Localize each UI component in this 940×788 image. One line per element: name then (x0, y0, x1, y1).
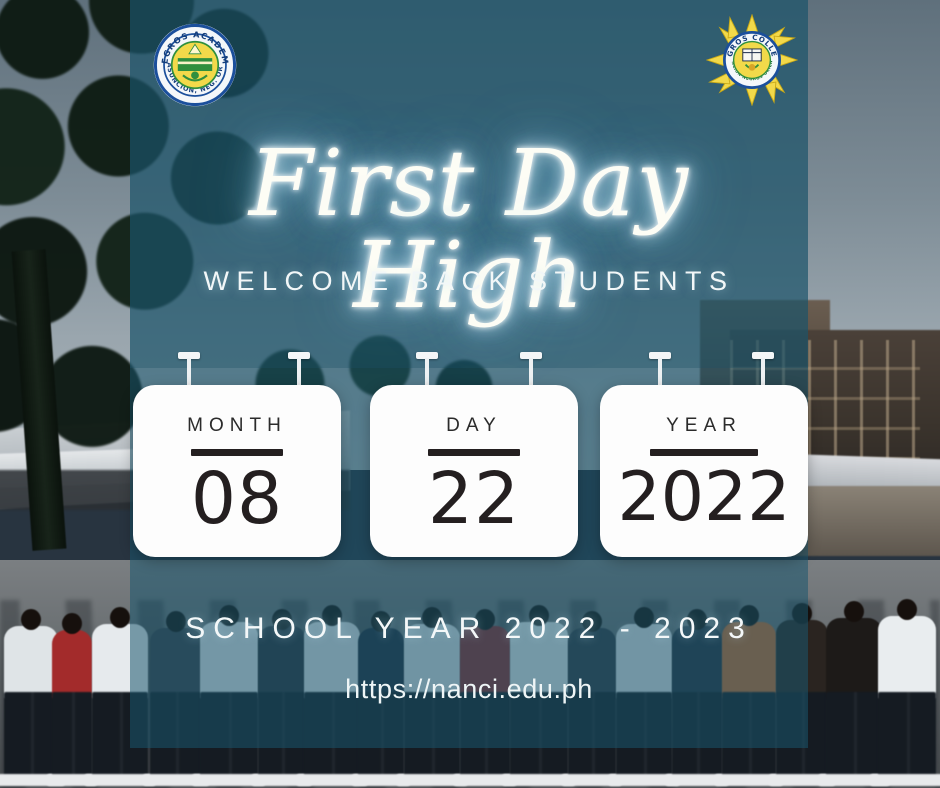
date-card-divider (428, 449, 520, 456)
date-card-group: MONTH 08 DAY 22 YEAR 2022 (130, 352, 808, 558)
date-card-divider (191, 449, 283, 456)
date-card-label: MONTH (187, 415, 287, 437)
page-subtitle: WELCOME BACK STUDENTS (130, 266, 808, 297)
date-card-label: YEAR (666, 415, 742, 437)
date-card-month: MONTH 08 (133, 385, 341, 557)
student-figure (878, 616, 936, 700)
date-card-divider (650, 449, 758, 456)
date-card-value: 22 (428, 462, 520, 537)
student-figure (826, 618, 882, 700)
school-year-text: SCHOOL YEAR 2022 - 2023 (130, 612, 808, 646)
website-url[interactable]: https://nanci.edu.ph (130, 674, 808, 705)
date-card-day: DAY 22 (370, 385, 578, 557)
date-card-value: 08 (191, 462, 283, 537)
date-card-value: 2022 (617, 462, 790, 533)
negros-academy-seal-icon: NEGROS ACADEMY ASUNCION, NEG. OR. (152, 22, 238, 108)
date-card-label: DAY (446, 415, 502, 437)
student-figure (4, 626, 58, 700)
student-figure (52, 630, 92, 700)
negros-college-seal-icon: NEGROS COLLEGE ASUNCION NEGROS ORIENTAL (706, 14, 798, 106)
poster: NEGROS ACADEMY ASUNCION, NEG. OR. (0, 0, 940, 788)
date-card-year: YEAR 2022 (600, 385, 808, 557)
